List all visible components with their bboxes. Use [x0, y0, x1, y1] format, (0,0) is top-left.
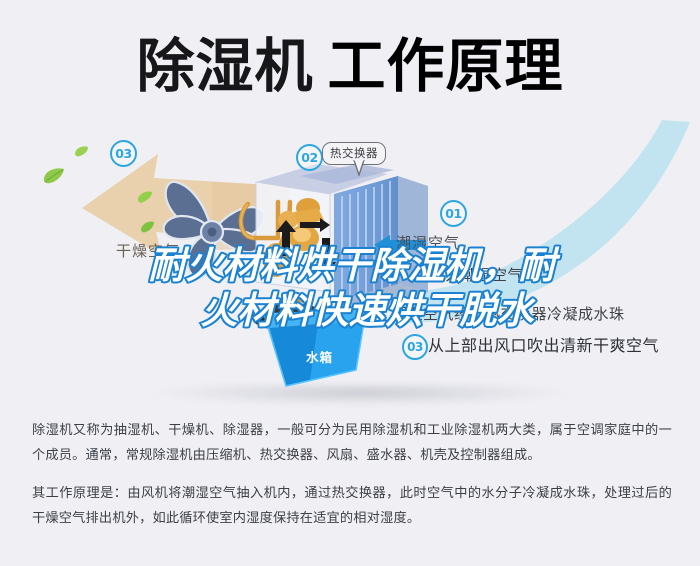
leaf-icon	[74, 145, 89, 163]
dehumidifier-diagram: 03 02 01 03 热交换器 干燥空气 潮湿空气 水箱 吸入潮湿空气 潮湿空…	[0, 112, 700, 400]
article-body: 除湿机又称为抽湿机、干燥机、除湿器，一般可分为民用除湿机和工业除湿机两大类，属于…	[32, 418, 672, 531]
label-water-tank: 水箱	[306, 347, 333, 366]
body-paragraph-2: 其工作原理是：由风机将潮湿空气抽入机内，通过热交换器，此时空气中的水分子冷凝成水…	[32, 481, 672, 531]
label-dry-air: 干燥空气	[116, 240, 180, 261]
title-part-two: 工作原理	[328, 37, 564, 95]
badge-step-02-heat-exchanger: 02	[296, 144, 323, 171]
callout-tail-icon	[352, 160, 366, 176]
page-title: 除湿机 工作原理	[0, 26, 700, 106]
badge-step-03-dry-air: 03	[110, 140, 137, 167]
infographic-page: 除湿机 工作原理	[0, 0, 700, 566]
label-moist-air: 潮湿空气	[396, 232, 460, 253]
badge-step-03-outlet: 03	[402, 334, 428, 360]
step-description-03: 从上部出风口吹出清新干爽空气	[428, 332, 659, 356]
step-description-01: 吸入潮湿空气	[430, 264, 523, 285]
body-paragraph-1: 除湿机又称为抽湿机、干燥机、除湿器，一般可分为民用除湿机和工业除湿机两大类，属于…	[32, 418, 672, 468]
step-description-02: 潮湿空气经过热交换器冷凝成水珠	[392, 303, 625, 324]
title-part-one: 除湿机	[136, 37, 313, 95]
leaf-icon	[42, 166, 66, 191]
badge-step-01-moist-air: 01	[440, 200, 467, 227]
